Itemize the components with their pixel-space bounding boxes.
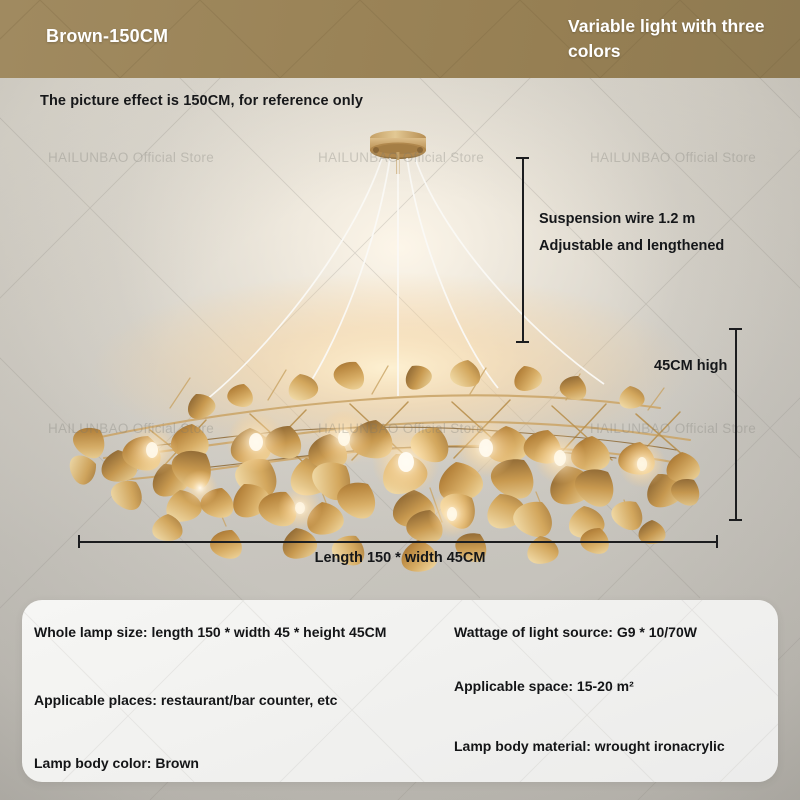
spec-applicable-space: Applicable space: 15-20 m²	[454, 678, 634, 694]
length-dimension-line	[78, 541, 718, 543]
specifications-panel: Whole lamp size: length 150 * width 45 *…	[22, 600, 778, 782]
spec-lamp-body-material: Lamp body material: wrought ironacrylic	[454, 738, 725, 754]
suspension-note-line2: Adjustable and lengthened	[539, 233, 789, 260]
length-dimension-label: Length 150 * width 45CM	[0, 550, 800, 566]
dimension-cap-right	[716, 535, 718, 548]
height-dimension-line	[735, 328, 737, 521]
spec-lamp-body-color: Lamp body color: Brown	[34, 755, 199, 771]
chandelier-illustration	[0, 78, 800, 578]
product-image-canvas: HAILUNBAO Official Store HAILUNBAO Offic…	[0, 0, 800, 800]
suspension-note: Suspension wire 1.2 m Adjustable and len…	[539, 206, 789, 260]
dimension-cap-top	[729, 328, 742, 330]
spec-applicable-places: Applicable places: restaurant/bar counte…	[34, 692, 337, 708]
dimension-cap-top	[516, 157, 529, 159]
header-bar: Brown-150CM Variable light with three co…	[0, 0, 800, 78]
dimension-cap-bottom	[516, 341, 529, 343]
dimension-cap-bottom	[729, 519, 742, 521]
feature-label: Variable light with three colors	[568, 14, 790, 64]
suspension-dimension-line	[522, 157, 524, 343]
reference-note: The picture effect is 150CM, for referen…	[40, 93, 363, 109]
spec-wattage: Wattage of light source: G9 * 10/70W	[454, 624, 697, 640]
variant-label: Brown-150CM	[46, 26, 168, 47]
spec-whole-lamp-size: Whole lamp size: length 150 * width 45 *…	[34, 624, 386, 640]
suspension-note-line1: Suspension wire 1.2 m	[539, 206, 789, 233]
dimension-cap-left	[78, 535, 80, 548]
height-dimension-label: 45CM high	[654, 358, 727, 374]
